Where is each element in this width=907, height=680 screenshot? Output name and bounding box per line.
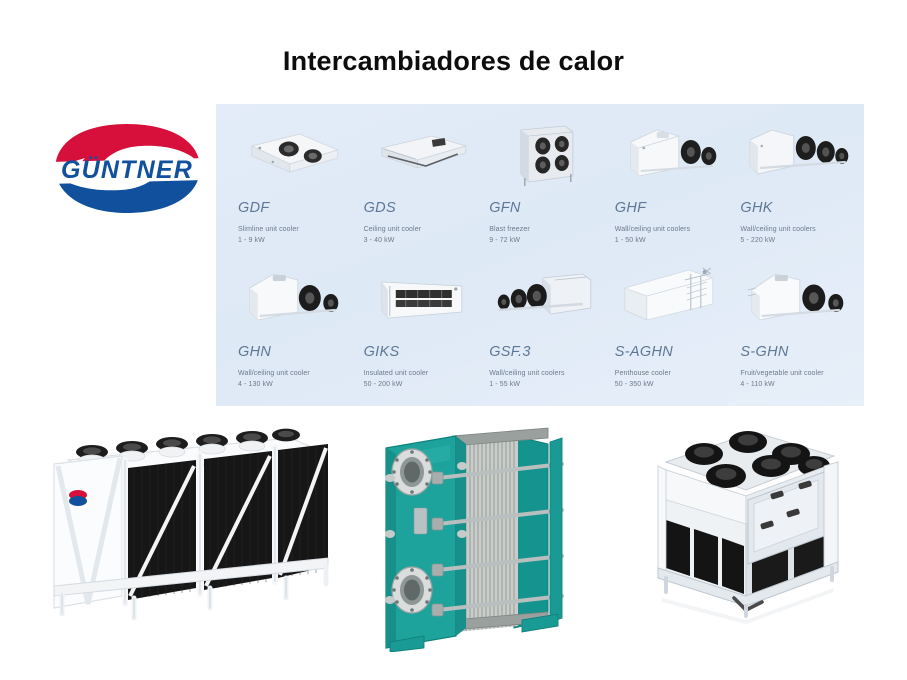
fruit-vegetable-cooler-icon xyxy=(740,260,854,334)
dry-cooler-v-shape-photo xyxy=(28,418,346,630)
product-description: Fruit/vegetable unit cooler 4 - 110 kW xyxy=(740,369,854,391)
product-card[interactable]: GHF Wall/ceiling unit coolers 1 - 50 kW xyxy=(603,112,729,256)
product-description: Slimline unit cooler 1 - 9 kW xyxy=(238,225,352,247)
product-model: GFN xyxy=(489,200,603,216)
product-description: Penthouse cooler 50 - 350 kW xyxy=(615,369,729,391)
product-description: Wall/ceiling unit cooler 4 - 130 kW xyxy=(238,369,352,391)
page-title: Intercambiadores de calor xyxy=(0,46,907,77)
product-description: Wall/ceiling unit coolers 1 - 50 kW xyxy=(615,225,729,247)
product-card[interactable]: GDS Ceiling unit cooler 3 - 40 kW xyxy=(352,112,478,256)
guntner-logo-graphic: GÜNTNER xyxy=(45,118,210,218)
product-model: S-GHN xyxy=(740,344,854,360)
slimline-unit-cooler-icon xyxy=(238,116,352,190)
product-card[interactable]: GSF.3 Wall/ceiling unit coolers 1 - 55 k… xyxy=(477,256,603,400)
ceiling-unit-cooler-icon xyxy=(364,116,478,190)
wall-ceiling-cooler-twin-icon xyxy=(238,260,352,334)
wall-ceiling-cooler-icon xyxy=(615,116,729,190)
product-card[interactable]: GHK Wall/ceiling unit coolers 5 - 220 kW xyxy=(728,112,854,256)
blast-freezer-icon xyxy=(489,116,603,190)
plate-heat-exchanger-photo xyxy=(372,414,600,652)
product-description: Wall/ceiling unit coolers 5 - 220 kW xyxy=(740,225,854,247)
product-card[interactable]: GFN Blast freezer 9 - 72 kW xyxy=(477,112,603,256)
product-description: Ceiling unit cooler 3 - 40 kW xyxy=(364,225,478,247)
product-model: GDF xyxy=(238,200,352,216)
evaporative-condenser-photo xyxy=(628,416,872,624)
product-description: Insulated unit cooler 50 - 200 kW xyxy=(364,369,478,391)
product-grid: GDF Slimline unit cooler 1 - 9 kW xyxy=(216,104,864,406)
product-model: GHF xyxy=(615,200,729,216)
product-model: GDS xyxy=(364,200,478,216)
product-model: GHK xyxy=(740,200,854,216)
triple-fan-cooler-icon xyxy=(489,260,603,334)
guntner-logo: GÜNTNER xyxy=(45,118,210,218)
product-model: GSF.3 xyxy=(489,344,603,360)
product-card[interactable]: S-GHN Fruit/vegetable unit cooler 4 - 11… xyxy=(728,256,854,400)
product-model: S-AGHN xyxy=(615,344,729,360)
product-description: Wall/ceiling unit coolers 1 - 55 kW xyxy=(489,369,603,391)
product-card[interactable]: GDF Slimline unit cooler 1 - 9 kW xyxy=(226,112,352,256)
product-range-panel: GDF Slimline unit cooler 1 - 9 kW xyxy=(216,104,864,406)
slide-canvas: Intercambiadores de calor GÜNTNER xyxy=(0,0,907,680)
product-card[interactable]: GHN Wall/ceiling unit cooler 4 - 130 kW xyxy=(226,256,352,400)
product-model: GIKS xyxy=(364,344,478,360)
wall-ceiling-cooler-large-icon xyxy=(740,116,854,190)
product-description: Blast freezer 9 - 72 kW xyxy=(489,225,603,247)
guntner-wordmark: GÜNTNER xyxy=(61,155,193,184)
penthouse-cooler-icon xyxy=(615,260,729,334)
insulated-unit-cooler-icon xyxy=(364,260,478,334)
product-model: GHN xyxy=(238,344,352,360)
product-card[interactable]: GIKS Insulated unit cooler 50 - 200 kW xyxy=(352,256,478,400)
product-card[interactable]: S-AGHN Penthouse cooler 50 - 350 kW xyxy=(603,256,729,400)
